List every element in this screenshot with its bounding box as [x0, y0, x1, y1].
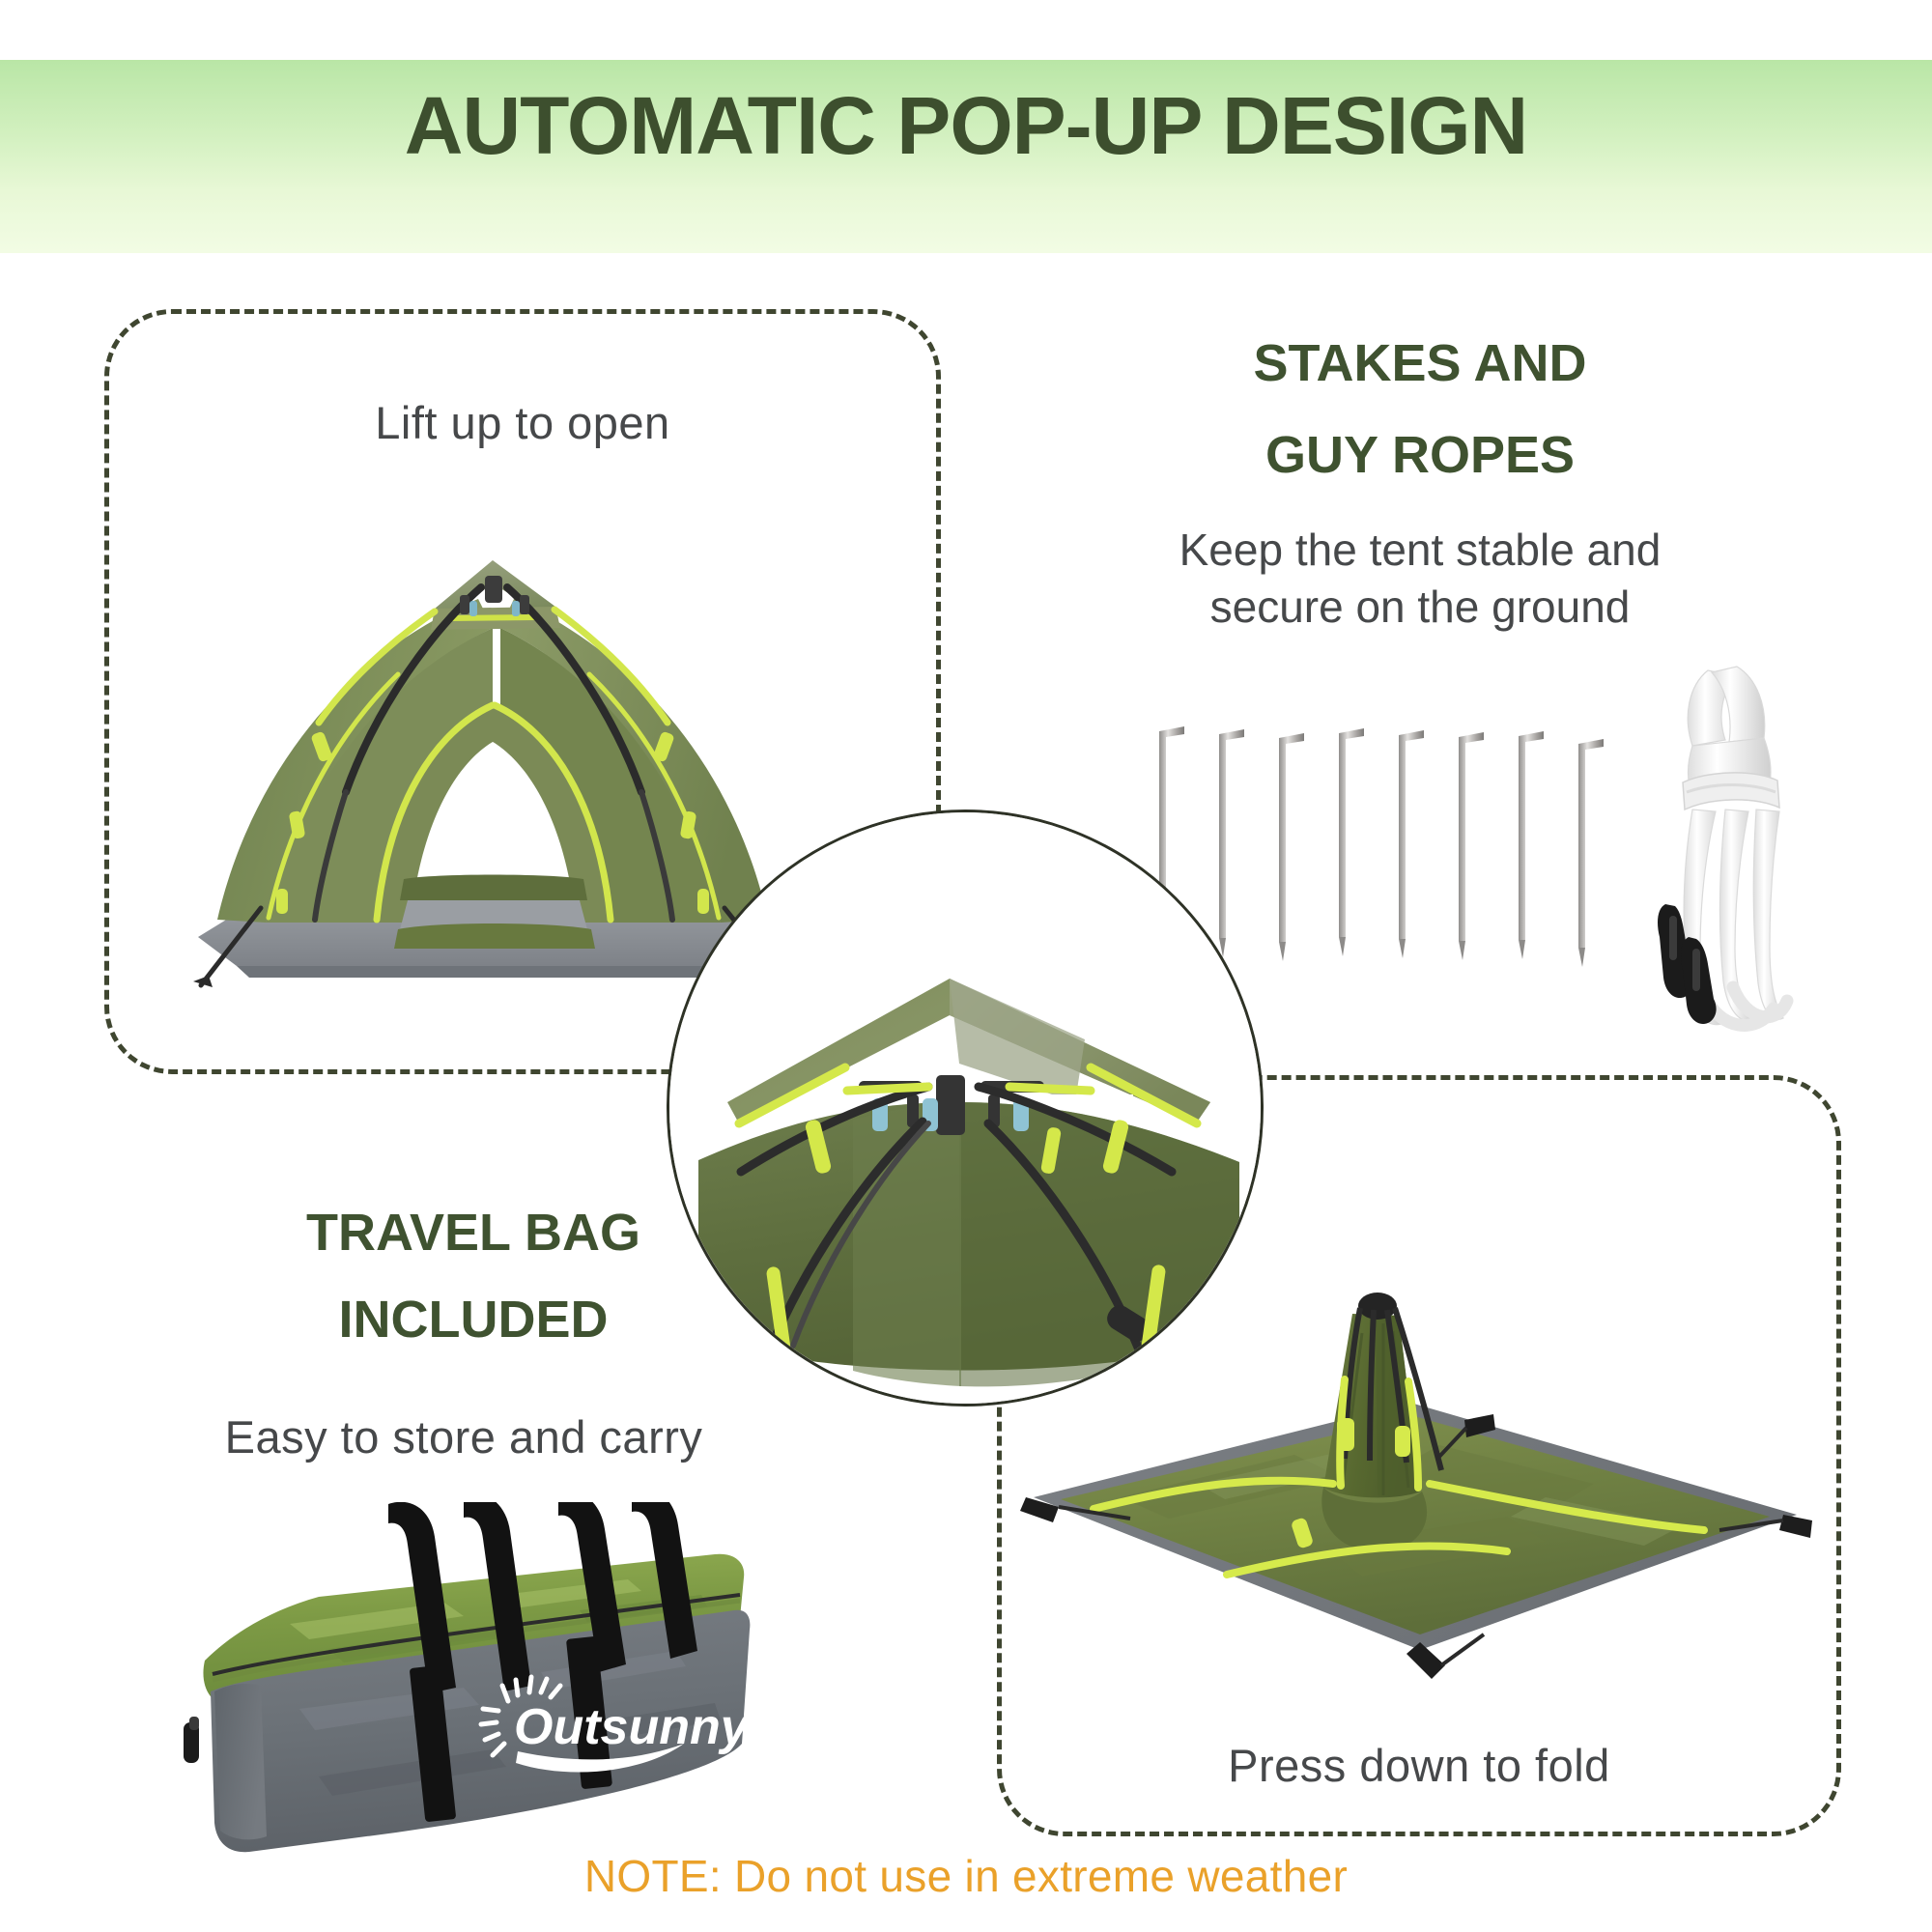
tent-top-detail-icon [669, 812, 1264, 1406]
subtitle-stakes-line1: Keep the tent stable and [995, 522, 1845, 579]
heading-stakes-line2: GUY ROPES [995, 425, 1845, 485]
footer-note: NOTE: Do not use in extreme weather [0, 1850, 1932, 1902]
caption-lift-up-to-open: Lift up to open [104, 396, 941, 449]
subtitle-stakes: Keep the tent stable and secure on the g… [995, 522, 1845, 636]
subtitle-travel-bag: Easy to store and carry [126, 1410, 802, 1463]
brand-wordmark: Outsunny [514, 1699, 752, 1755]
subtitle-stakes-line2: secure on the ground [995, 579, 1845, 636]
tent-top-detail-inset [667, 810, 1264, 1406]
caption-press-down-to-fold: Press down to fold [997, 1739, 1841, 1792]
guy-rope-coil-icon [1633, 645, 1874, 1051]
infographic-stage: AUTOMATIC POP-UP DESIGN [0, 0, 1932, 1932]
page-title: AUTOMATIC POP-UP DESIGN [0, 85, 1932, 166]
travel-bag-icon: Outsunny [174, 1502, 753, 1874]
heading-stakes-line1: STAKES AND [995, 333, 1845, 393]
